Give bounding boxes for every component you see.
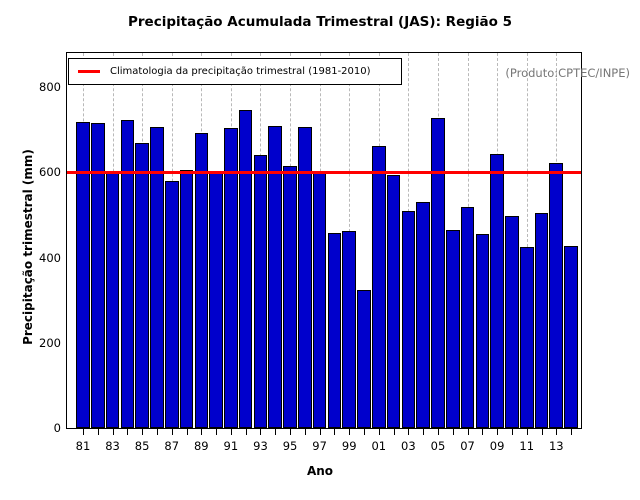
bar-89 <box>195 133 209 428</box>
bar-01 <box>372 146 386 428</box>
x-tick-label: 87 <box>164 439 179 453</box>
x-tick-mark <box>320 429 321 435</box>
x-tick-label: 13 <box>549 439 564 453</box>
bar-84 <box>121 120 135 428</box>
plot-area <box>66 52 582 429</box>
x-tick-mark <box>364 429 365 435</box>
bar-09 <box>490 154 504 428</box>
bar-13 <box>549 163 563 428</box>
bar-14 <box>564 246 578 428</box>
bar-82 <box>91 123 105 428</box>
x-tick-label: 89 <box>194 439 209 453</box>
x-tick-mark <box>349 429 350 435</box>
x-tick-mark <box>394 429 395 435</box>
x-tick-mark <box>290 429 291 435</box>
x-tick-label: 07 <box>460 439 475 453</box>
x-tick-mark <box>512 429 513 435</box>
x-tick-label: 95 <box>283 439 298 453</box>
x-axis-label: Ano <box>0 464 640 478</box>
bar-12 <box>535 213 549 428</box>
y-tick-label: 800 <box>39 80 61 94</box>
legend-line-swatch-icon <box>78 70 100 73</box>
bar-06 <box>446 230 460 428</box>
bar-07 <box>461 207 475 428</box>
x-tick-label: 03 <box>401 439 416 453</box>
bar-81 <box>76 122 90 428</box>
x-tick-mark <box>201 429 202 435</box>
produto-credit: (Produto:CPTEC/INPE) <box>505 66 630 80</box>
x-tick-mark <box>571 429 572 435</box>
x-tick-label: 99 <box>342 439 357 453</box>
bar-90 <box>209 171 223 428</box>
x-tick-mark <box>556 429 557 435</box>
bar-88 <box>180 170 194 428</box>
legend-entry-label: Climatologia da precipitação trimestral … <box>110 66 371 77</box>
bar-99 <box>342 231 356 428</box>
x-tick-mark <box>423 429 424 435</box>
x-tick-mark <box>157 429 158 435</box>
x-tick-mark <box>142 429 143 435</box>
bar-04 <box>416 202 430 428</box>
x-tick-label: 01 <box>371 439 386 453</box>
y-tick-label: 0 <box>54 421 61 435</box>
x-tick-mark <box>187 429 188 435</box>
bar-97 <box>313 173 327 428</box>
x-tick-label: 97 <box>312 439 327 453</box>
climatology-reference-line <box>67 171 581 174</box>
x-tick-label: 05 <box>431 439 446 453</box>
bar-87 <box>165 181 179 428</box>
x-tick-label: 09 <box>490 439 505 453</box>
y-tick-label: 400 <box>39 251 61 265</box>
x-tick-label: 11 <box>519 439 534 453</box>
x-tick-mark <box>216 429 217 435</box>
x-tick-label: 85 <box>135 439 150 453</box>
y-tick-label: 600 <box>39 165 61 179</box>
bar-95 <box>283 166 297 429</box>
bar-92 <box>239 110 253 428</box>
x-tick-mark <box>527 429 528 435</box>
bars-layer <box>67 53 581 428</box>
bar-03 <box>402 211 416 428</box>
legend: Climatologia da precipitação trimestral … <box>68 58 402 85</box>
bar-83 <box>106 171 120 428</box>
x-tick-mark <box>438 429 439 435</box>
x-tick-mark <box>98 429 99 435</box>
chart-root: Precipitação Acumulada Trimestral (JAS):… <box>0 0 640 500</box>
bar-08 <box>476 234 490 428</box>
bar-05 <box>431 118 445 428</box>
x-tick-mark <box>172 429 173 435</box>
x-tick-label: 81 <box>76 439 91 453</box>
x-tick-mark <box>305 429 306 435</box>
bar-93 <box>254 155 268 428</box>
y-tick-label: 200 <box>39 336 61 350</box>
bar-98 <box>328 233 342 428</box>
bar-85 <box>135 143 149 428</box>
x-tick-mark <box>334 429 335 435</box>
x-tick-mark <box>379 429 380 435</box>
x-tick-mark <box>497 429 498 435</box>
x-tick-mark <box>113 429 114 435</box>
x-tick-label: 93 <box>253 439 268 453</box>
chart-title: Precipitação Acumulada Trimestral (JAS):… <box>0 14 640 30</box>
x-tick-mark <box>468 429 469 435</box>
x-tick-label: 91 <box>224 439 239 453</box>
y-axis-tick-labels: 0200400600800 <box>18 52 61 429</box>
x-tick-mark <box>453 429 454 435</box>
bar-11 <box>520 247 534 428</box>
x-tick-mark <box>408 429 409 435</box>
bar-00 <box>357 290 371 428</box>
x-tick-mark <box>275 429 276 435</box>
x-tick-mark <box>260 429 261 435</box>
x-tick-mark <box>231 429 232 435</box>
x-tick-mark <box>83 429 84 435</box>
x-tick-mark <box>127 429 128 435</box>
x-tick-mark <box>482 429 483 435</box>
bar-10 <box>505 216 519 428</box>
x-tick-mark <box>542 429 543 435</box>
bar-02 <box>387 175 401 428</box>
x-tick-label: 83 <box>105 439 120 453</box>
x-tick-mark <box>246 429 247 435</box>
